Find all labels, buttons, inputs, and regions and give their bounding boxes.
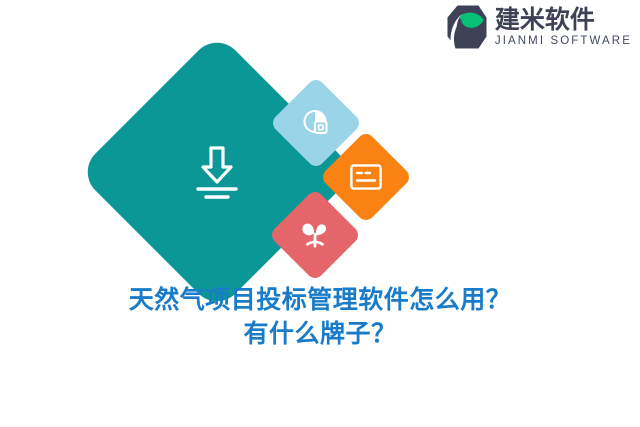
page-title-line-1: 天然气项目投标管理软件怎么用？ — [0, 284, 640, 316]
sprout-icon — [299, 219, 331, 251]
illustration-cluster — [0, 0, 640, 290]
id-card-icon — [350, 164, 382, 190]
pie-chart-icon — [301, 108, 331, 138]
download-icon — [188, 143, 246, 201]
page-title: 天然气项目投标管理软件怎么用？ 有什么牌子？ — [0, 284, 640, 350]
page-title-line-2: 有什么牌子？ — [0, 318, 640, 350]
